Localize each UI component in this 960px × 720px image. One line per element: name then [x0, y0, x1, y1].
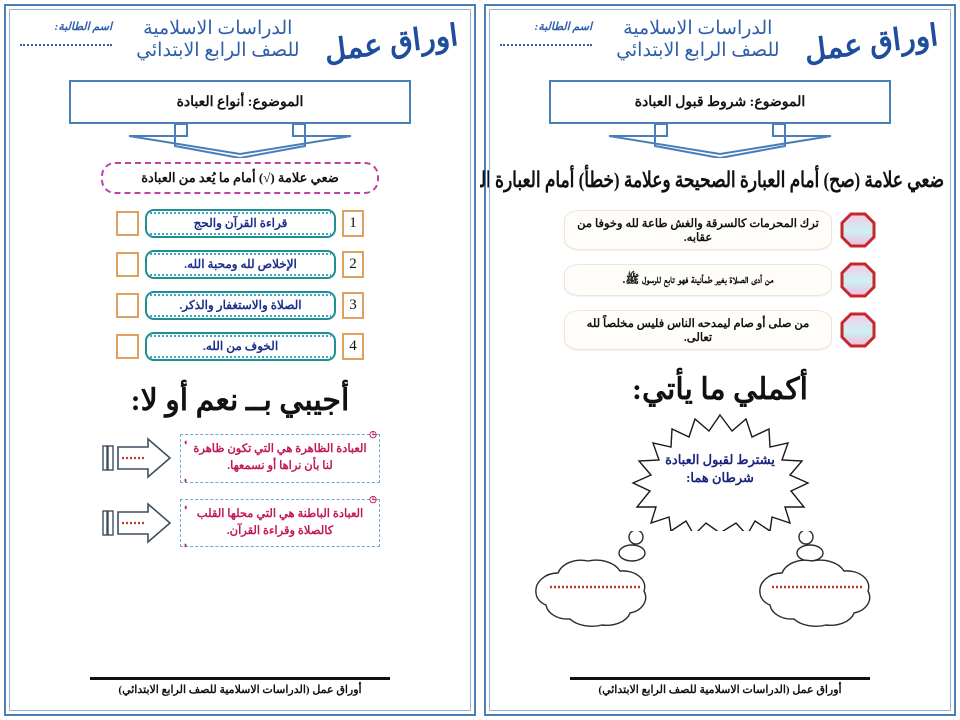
topic-down-arrow-left [69, 124, 411, 158]
starburst-callout: يشترط لقبول العبادة شرطان هما: [590, 411, 850, 531]
octagon-answer-slot[interactable] [840, 262, 876, 298]
checklist-row: 4 الخوف من الله. [116, 331, 364, 361]
starburst-line-2: شرطان هما: [590, 469, 850, 487]
student-name-field-left[interactable]: اسم الطالبة: [16, 12, 112, 46]
footer-rule [570, 677, 870, 680]
title-line-2: للصف الرابع الابتدائي [592, 40, 804, 62]
page-footer-right: أوراق عمل (الدراسات الاسلامية للصف الراب… [486, 677, 954, 696]
cloud-bubble-1 [760, 531, 870, 626]
note-box: ◷ ◖ ◗ العبادة الباطنة هي التي محلها القل… [180, 499, 380, 548]
page-right-worksheet: اوراق عمل الدراسات الاسلامية للصف الرابع… [480, 0, 960, 720]
page-right-frame: اوراق عمل الدراسات الاسلامية للصف الرابع… [484, 4, 956, 716]
checklist-row: 1 قراءة القرآن والحج [116, 208, 364, 238]
page-right-header: اوراق عمل الدراسات الاسلامية للصف الرابع… [486, 6, 954, 78]
title-line-1: الدراسات الاسلامية [112, 18, 324, 40]
instruction-true-false: ضعي علامة (صح) أمام العبارة الصحيحة وعلا… [496, 168, 944, 193]
block-arrow-icon [100, 435, 174, 481]
item-text: الصلاة والاستغفار والذكر. [179, 298, 301, 313]
footer-text: أوراق عمل (الدراسات الاسلامية للصف الراب… [6, 683, 474, 696]
note-box: ◷ ◖ ◗ العبادة الظاهرة هي التي تكون ظاهرة… [180, 434, 380, 483]
topic-section-left: الموضوع: أنواع العبادة [69, 80, 411, 158]
footer-text: أوراق عمل (الدراسات الاسلامية للصف الراب… [486, 683, 954, 696]
page-title: الدراسات الاسلامية للصف الرابع الابتدائي [592, 12, 804, 63]
statement-row: من صلى أو صام ليمدحه الناس فليس مخلصاً ل… [486, 310, 954, 350]
item-text: الخوف من الله. [203, 339, 278, 354]
item-text: الإخلاص لله ومحبة الله. [184, 257, 297, 272]
student-name-field-right[interactable]: اسم الطالبة: [496, 12, 592, 46]
block-arrow-icon [100, 500, 174, 546]
corner-mark-icon: ◗ [183, 539, 188, 553]
checklist-items: 1 قراءة القرآن والحج 2 الإخلاص لله ومحبة… [116, 208, 364, 361]
topic-down-arrow-right [549, 124, 891, 158]
topic-section-right: الموضوع: شروط قبول العبادة [549, 80, 891, 158]
worksheet-word-label: اوراق عمل [802, 18, 940, 69]
starburst-line-1: يشترط لقبول العبادة [590, 451, 850, 469]
item-number: 2 [342, 251, 364, 278]
student-name-dotted-line[interactable] [20, 43, 112, 46]
student-name-label: اسم الطالبة: [496, 20, 592, 33]
page-left-worksheet: اوراق عمل الدراسات الاسلامية للصف الرابع… [0, 0, 480, 720]
statement-row: ترك المحرمات كالسرقة والغش طاعة لله وخوف… [486, 210, 954, 250]
note-row: ◷ ◖ ◗ العبادة الباطنة هي التي محلها القل… [6, 499, 474, 548]
note-row: ◷ ◖ ◗ العبادة الظاهرة هي التي تكون ظاهرة… [6, 434, 474, 483]
item-plate: الإخلاص لله ومحبة الله. [145, 250, 336, 279]
corner-mark-icon: ◷ [369, 428, 377, 442]
page-footer-left: أوراق عمل (الدراسات الاسلامية للصف الراب… [6, 677, 474, 696]
starburst-text: يشترط لقبول العبادة شرطان هما: [590, 451, 850, 486]
item-plate: الصلاة والاستغفار والذكر. [145, 291, 336, 320]
worksheet-word-label: اوراق عمل [322, 18, 460, 69]
page-left-frame: اوراق عمل الدراسات الاسلامية للصف الرابع… [4, 4, 476, 716]
item-plate: قراءة القرآن والحج [145, 209, 336, 238]
yes-no-heading: أجيبي بــ نعم أو لا: [6, 383, 474, 418]
worksheet-spread: اوراق عمل الدراسات الاسلامية للصف الرابع… [0, 0, 960, 720]
cloud-bubble-2 [536, 531, 646, 626]
octagon-answer-slot[interactable] [840, 212, 876, 248]
tick-checkbox[interactable] [116, 211, 139, 236]
statement-text: من أدى الصلاة بغير طمأنينة فهو تابع للرس… [564, 264, 832, 296]
checklist-row: 2 الإخلاص لله ومحبة الله. [116, 249, 364, 279]
item-text: قراءة القرآن والحج [194, 216, 288, 231]
title-line-1: الدراسات الاسلامية [592, 18, 804, 40]
topic-box-right: الموضوع: شروط قبول العبادة [549, 80, 891, 124]
student-name-dotted-line[interactable] [500, 43, 592, 46]
statement-list: ترك المحرمات كالسرقة والغش طاعة لله وخوف… [486, 210, 954, 350]
title-line-2: للصف الرابع الابتدائي [112, 40, 324, 62]
corner-mark-icon: ◖ [183, 501, 188, 515]
cloud-answer-area [510, 531, 930, 651]
page-title: الدراسات الاسلامية للصف الرابع الابتدائي [112, 12, 324, 63]
page-left-header: اوراق عمل الدراسات الاسلامية للصف الرابع… [6, 6, 474, 78]
statement-text: ترك المحرمات كالسرقة والغش طاعة لله وخوف… [564, 210, 832, 250]
corner-mark-icon: ◷ [369, 493, 377, 507]
item-number: 4 [342, 333, 364, 360]
statement-row: من أدى الصلاة بغير طمأنينة فهو تابع للرس… [486, 262, 954, 298]
tick-checkbox[interactable] [116, 334, 139, 359]
corner-mark-icon: ◖ [183, 436, 188, 450]
corner-mark-icon: ◗ [183, 474, 188, 488]
item-number: 3 [342, 292, 364, 319]
topic-box-left: الموضوع: أنواع العبادة [69, 80, 411, 124]
note-text: العبادة الباطنة هي التي محلها القلب كالص… [197, 508, 363, 537]
complete-heading: أكملي ما يأتي: [486, 372, 954, 407]
tick-checkbox[interactable] [116, 293, 139, 318]
item-plate: الخوف من الله. [145, 332, 336, 361]
item-number: 1 [342, 210, 364, 237]
checklist-row: 3 الصلاة والاستغفار والذكر. [116, 290, 364, 320]
student-name-label: اسم الطالبة: [16, 20, 112, 33]
octagon-answer-slot[interactable] [840, 312, 876, 348]
note-text: العبادة الظاهرة هي التي تكون ظاهرة لنا ب… [193, 443, 366, 472]
instruction-tick-items: ضعي علامة (√) أمام ما يُعد من العبادة [101, 162, 379, 194]
footer-rule [90, 677, 390, 680]
statement-text: من صلى أو صام ليمدحه الناس فليس مخلصاً ل… [564, 310, 832, 350]
tick-checkbox[interactable] [116, 252, 139, 277]
